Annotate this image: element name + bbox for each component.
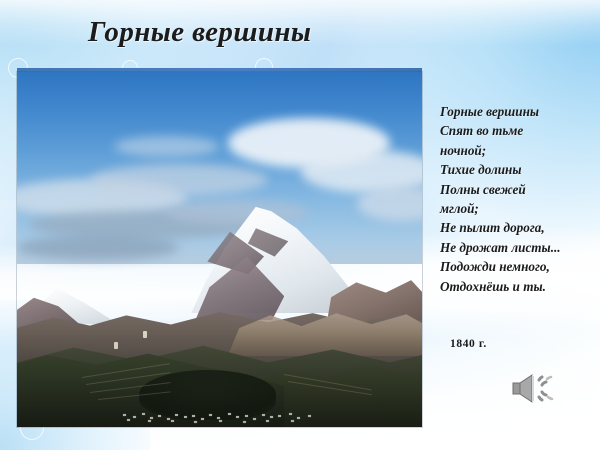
photo-village: [114, 399, 325, 424]
poem-text: Горные вершины Спят во тьме ночной; Тихи…: [440, 102, 592, 296]
mountain-photo-image: [17, 72, 422, 427]
poem-line: Отдохнёшь и ты.: [440, 277, 592, 296]
poem-line: Спят во тьме: [440, 121, 592, 140]
photo-cloud: [163, 200, 309, 225]
speaker-icon[interactable]: [508, 372, 560, 406]
poem-line: Подожди немного,: [440, 257, 592, 276]
poem-line: Тихие долины: [440, 160, 592, 179]
mountain-photo: [17, 72, 422, 427]
poem-line: мглой;: [440, 199, 592, 218]
poem-line: Не дрожат листы...: [440, 238, 592, 257]
photo-church-building: [143, 331, 147, 338]
poem-line: ночной;: [440, 141, 592, 160]
slide-title: Горные вершины: [88, 16, 311, 49]
slide-canvas: Горные вершины: [0, 0, 600, 450]
poem-line: Полны свежей: [440, 180, 592, 199]
photo-church-building: [114, 342, 118, 349]
poem-line: Не пылит дорога,: [440, 218, 592, 237]
poem-line: Горные вершины: [440, 102, 592, 121]
photo-cloud: [17, 235, 179, 260]
poem-date: 1840 г.: [450, 338, 487, 350]
